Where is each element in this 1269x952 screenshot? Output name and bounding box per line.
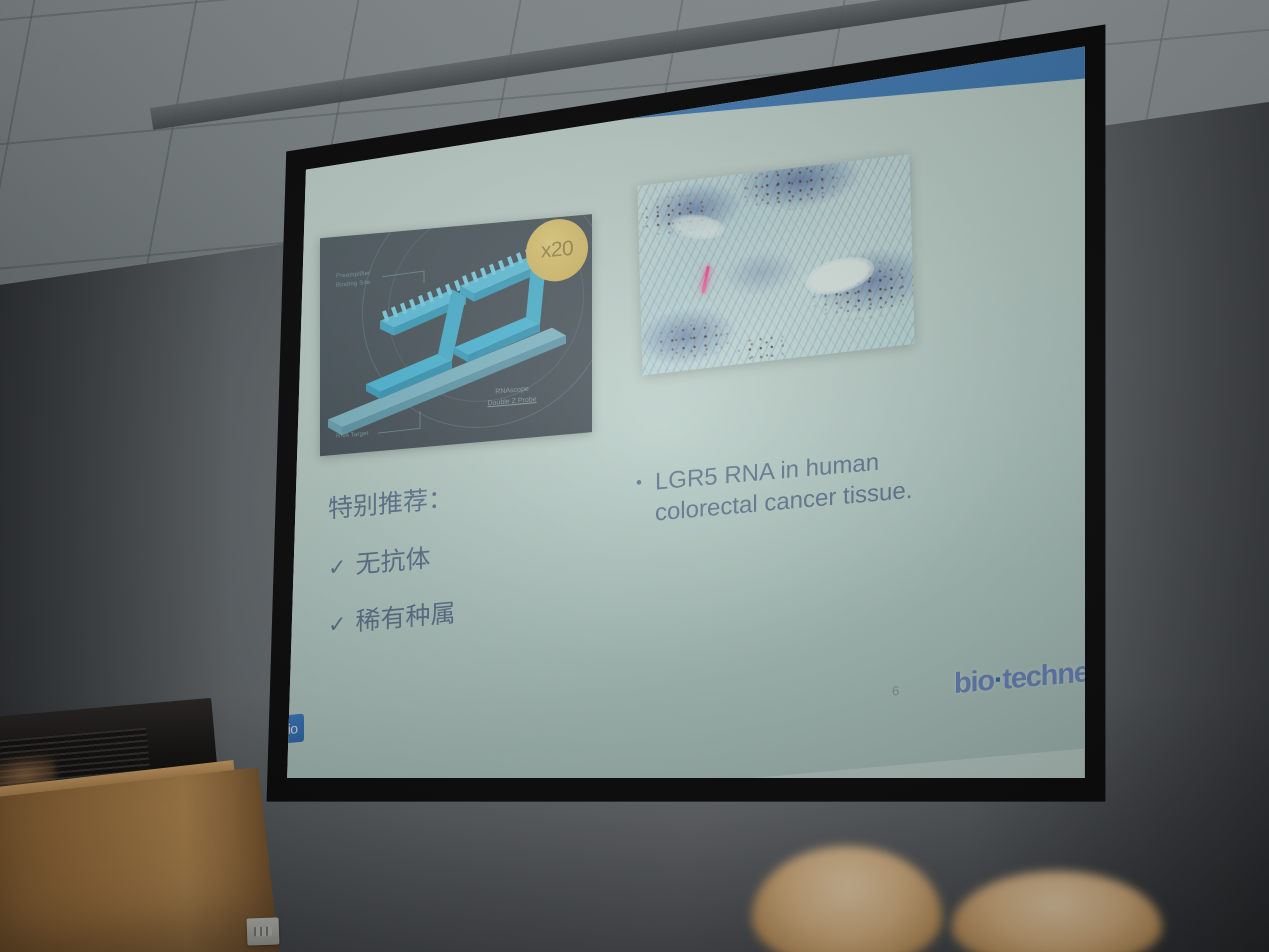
check-icon: ✓ — [328, 611, 346, 638]
biotechne-logo-techne: techne — [1002, 656, 1088, 696]
projection-screen-frame[interactable]: ACD：RNA原位探针杂交 — [258, 18, 1114, 808]
biotechne-logo: bio·techne — [954, 656, 1089, 701]
left-list-item-2: ✓稀有种属 — [328, 584, 628, 640]
left-heading: 特别推荐： — [328, 469, 628, 525]
check-icon: ✓ — [328, 553, 346, 580]
right-bullet-text: LGR5 RNA in human colorectal cancer tiss… — [655, 439, 966, 529]
left-list-item-1-label: 无抗体 — [355, 544, 430, 579]
projection-screen-surface[interactable]: ACD：RNA原位探针杂交 — [258, 18, 1114, 808]
left-list-item-1: ✓无抗体 — [328, 526, 628, 582]
slide: ACD：RNA原位探针杂交 — [258, 18, 1114, 808]
wall-outlet — [247, 917, 280, 945]
room-scene: ACD：RNA原位探针杂交 — [0, 0, 1269, 952]
bullet-icon: • — [636, 468, 642, 499]
biotechne-logo-bio: bio — [954, 665, 994, 701]
left-list-item-2-label: 稀有种属 — [355, 599, 455, 636]
histology-micrograph — [637, 154, 914, 375]
right-bullet-item: • LGR5 RNA in human colorectal cancer ti… — [636, 439, 966, 531]
bio-corner-logo: bio — [274, 714, 304, 745]
rnascope-probe-diagram: Preamplifier Binding Site RNA Target RNA… — [320, 214, 592, 456]
podium — [0, 767, 280, 952]
slide-number: 6 — [892, 683, 899, 699]
left-text-column: 特别推荐： ✓无抗体 ✓稀有种属 — [328, 469, 628, 640]
diagram-label-preamplifier: Preamplifier Binding Site — [336, 270, 370, 291]
right-text-column: • LGR5 RNA in human colorectal cancer ti… — [636, 439, 966, 531]
